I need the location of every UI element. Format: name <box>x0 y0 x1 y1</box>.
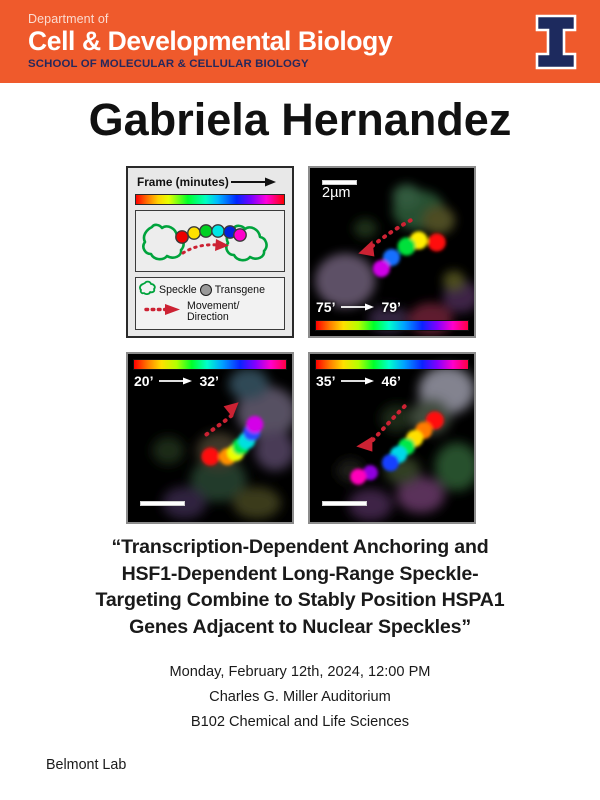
time-direction-arrow-icon <box>159 373 193 389</box>
timestamp-row-20-32: 20’ 32’ <box>134 373 219 389</box>
event-details: Monday, February 12th, 2024, 12:00 PM Ch… <box>60 660 540 735</box>
frame-minutes-label: Frame (minutes) <box>137 175 229 189</box>
time-start-label: 75’ <box>316 299 335 315</box>
time-start-label: 35’ <box>316 373 335 389</box>
illinois-block-i-logo-icon <box>534 13 578 71</box>
time-start-label: 20’ <box>134 373 153 389</box>
time-end-label: 46’ <box>381 373 400 389</box>
panel-colorbar-75-79 <box>315 320 469 331</box>
event-room: B102 Chemical and Life Sciences <box>60 710 540 735</box>
speckle-legend-icon <box>139 280 156 300</box>
speckle-legend-label: Speckle <box>159 284 197 296</box>
event-venue: Charles G. Miller Auditorium <box>60 685 540 710</box>
movement-legend-label: Movement/ Direction <box>187 301 281 323</box>
legend-row-movement: Movement/ Direction <box>139 301 281 323</box>
movement-arrow-legend-icon <box>144 303 182 321</box>
legend-row-speckle-transgene: Speckle Transgene <box>139 280 281 300</box>
panel-colorbar-20-32 <box>133 359 287 370</box>
department-name: Cell & Developmental Biology <box>28 28 392 55</box>
transgene-legend-icon <box>200 284 212 296</box>
micrograph-panel-75-79: 2µm 75’ 79’ <box>308 166 476 338</box>
talk-title: “Transcription-Dependent Anchoring and H… <box>38 534 562 641</box>
talk-title-line-2: HSF1-Dependent Long-Range Speckle- <box>38 561 562 588</box>
time-end-label: 79’ <box>381 299 400 315</box>
figure-panel-grid: Frame (minutes) <box>126 166 476 524</box>
micrograph-panel-35-46: 35’ 46’ <box>308 352 476 524</box>
talk-title-line-4: Genes Adjacent to Nuclear Speckles” <box>38 614 562 641</box>
scale-bar-label: 2µm <box>322 185 351 201</box>
event-datetime: Monday, February 12th, 2024, 12:00 PM <box>60 660 540 685</box>
time-direction-arrow-icon <box>341 373 375 389</box>
speckle-schematic-box <box>135 210 285 272</box>
schematic-legend-box: Speckle Transgene Movement/ Direction <box>135 277 285 330</box>
time-end-label: 32’ <box>199 373 218 389</box>
school-name: SCHOOL OF MOLECULAR & CELLULAR BIOLOGY <box>28 59 392 70</box>
transgene-legend-label: Transgene <box>215 284 265 296</box>
frame-direction-arrow-icon <box>231 177 283 187</box>
frame-minutes-label-row: Frame (minutes) <box>135 174 285 189</box>
seminar-poster: Department of Cell & Developmental Biolo… <box>0 0 600 800</box>
schematic-diagram-panel: Frame (minutes) <box>126 166 294 338</box>
time-direction-arrow-icon <box>341 299 375 315</box>
department-of-label: Department of <box>28 13 392 26</box>
header-text-block: Department of Cell & Developmental Biolo… <box>28 13 392 70</box>
talk-title-line-1: “Transcription-Dependent Anchoring and <box>38 534 562 561</box>
temporal-colorbar <box>135 194 285 205</box>
timestamp-row-35-46: 35’ 46’ <box>316 373 401 389</box>
speaker-name: Gabriela Hernandez <box>0 97 600 142</box>
panel-colorbar-35-46 <box>315 359 469 370</box>
department-header-banner: Department of Cell & Developmental Biolo… <box>0 0 600 83</box>
micrograph-panel-20-32: 20’ 32’ <box>126 352 294 524</box>
talk-title-line-3: Targeting Combine to Stably Position HSP… <box>38 587 562 614</box>
speckle-schematic-drawing <box>136 211 278 269</box>
lab-name: Belmont Lab <box>46 757 126 773</box>
scale-bar <box>322 501 367 506</box>
scale-bar <box>140 501 185 506</box>
timestamp-row-75-79: 75’ 79’ <box>316 299 401 315</box>
